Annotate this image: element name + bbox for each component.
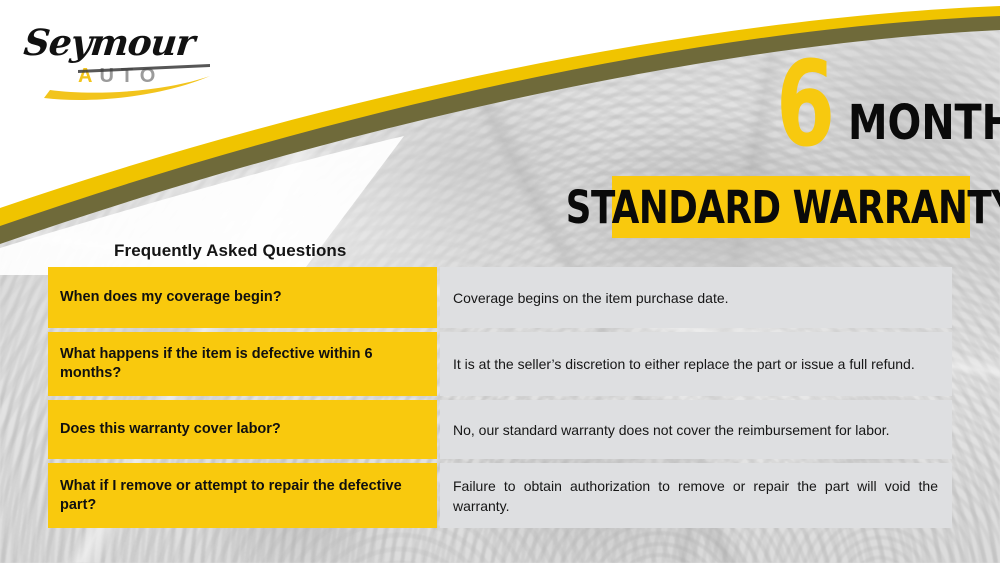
logo-swoosh-icon	[14, 20, 224, 104]
faq-question-text: When does my coverage begin?	[60, 288, 282, 307]
faq-question-cell: What if I remove or attempt to repair th…	[48, 463, 437, 528]
faq-answer-cell: Failure to obtain authorization to remov…	[440, 463, 952, 528]
faq-table: When does my coverage begin? Coverage be…	[48, 267, 952, 528]
standard-warranty-label: STANDARD WARRANTY	[566, 185, 1000, 230]
faq-answer-cell: No, our standard warranty does not cover…	[440, 400, 952, 459]
faq-answer-cell: Coverage begins on the item purchase dat…	[440, 267, 952, 328]
faq-answer-text: Failure to obtain authorization to remov…	[453, 476, 938, 516]
faq-question-text: What happens if the item is defective wi…	[60, 345, 425, 383]
seymour-auto-logo: Seymour AUTO	[14, 20, 224, 104]
faq-question-cell: Does this warranty cover labor?	[48, 400, 437, 459]
duration-number: 6	[776, 49, 834, 159]
table-row: What happens if the item is defective wi…	[48, 332, 952, 396]
faq-question-text: What if I remove or attempt to repair th…	[60, 477, 425, 515]
faq-heading: Frequently Asked Questions	[114, 241, 346, 261]
duration-unit: MONTH	[848, 99, 1000, 147]
warranty-slide: Seymour AUTO 6 MONTH STANDARD WARRANTY F…	[0, 0, 1000, 563]
standard-warranty-banner: STANDARD WARRANTY	[612, 176, 970, 238]
faq-question-cell: When does my coverage begin?	[48, 267, 437, 328]
table-row: What if I remove or attempt to repair th…	[48, 463, 952, 528]
table-row: When does my coverage begin? Coverage be…	[48, 267, 952, 328]
faq-answer-text: It is at the seller’s discretion to eith…	[453, 354, 915, 374]
faq-question-text: Does this warranty cover labor?	[60, 420, 281, 439]
faq-answer-text: No, our standard warranty does not cover…	[453, 420, 890, 440]
table-row: Does this warranty cover labor? No, our …	[48, 400, 952, 459]
faq-answer-cell: It is at the seller’s discretion to eith…	[440, 332, 952, 396]
faq-answer-text: Coverage begins on the item purchase dat…	[453, 288, 729, 308]
faq-question-cell: What happens if the item is defective wi…	[48, 332, 437, 396]
